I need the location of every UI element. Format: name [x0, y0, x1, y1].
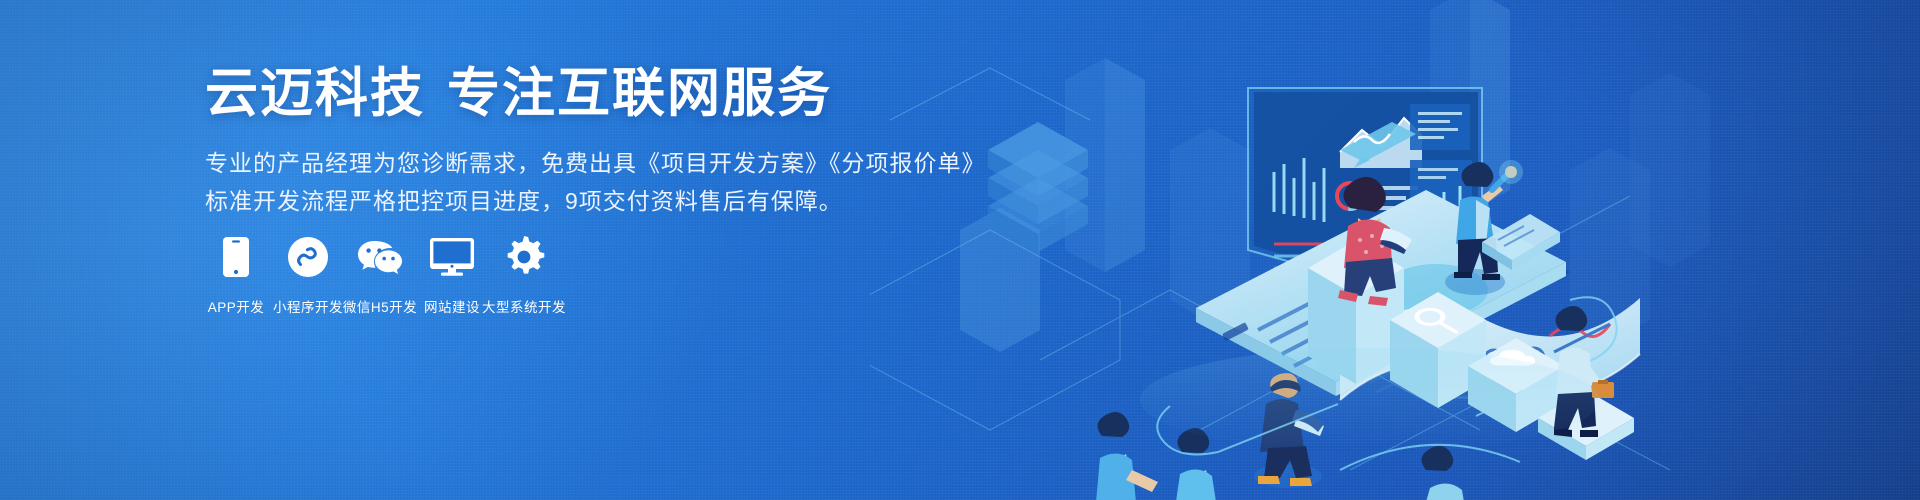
service-label: 网站建设: [424, 296, 480, 316]
service-item-wechat-h5[interactable]: 微信H5开发: [344, 232, 416, 316]
service-label: 小程序开发: [273, 296, 343, 316]
wechat-icon: [357, 232, 403, 282]
service-item-app[interactable]: APP开发: [200, 232, 272, 316]
service-label: 大型系统开发: [482, 296, 566, 316]
hero-illustration: [870, 0, 1920, 500]
service-label: 微信H5开发: [343, 296, 417, 316]
hero-subtitle: 专业的产品经理为您诊断需求，免费出具《项目开发方案》《分项报价单》 标准开发流程…: [205, 145, 965, 220]
monitor-icon: [430, 232, 474, 282]
title-part-2: 专注互联网服务: [447, 64, 832, 123]
mobile-phone-icon: [223, 232, 249, 282]
subtitle-line-2: 标准开发流程严格把控项目进度，9项交付资料售后有保障。: [205, 183, 965, 220]
title-part-1: 云迈科技: [205, 64, 425, 123]
service-label: APP开发: [208, 296, 265, 316]
page-title: 云迈科技专注互联网服务: [205, 64, 965, 123]
service-item-mini-program[interactable]: 小程序开发: [272, 232, 344, 316]
hero-copy: 云迈科技专注互联网服务 专业的产品经理为您诊断需求，免费出具《项目开发方案》《分…: [205, 64, 965, 220]
service-list: APP开发 小程序开发 微信: [200, 232, 560, 316]
hero-banner: 云迈科技专注互联网服务 专业的产品经理为您诊断需求，免费出具《项目开发方案》《分…: [0, 0, 1920, 500]
mini-program-icon: [288, 232, 328, 282]
service-item-large-system[interactable]: 大型系统开发: [488, 232, 560, 316]
service-item-website[interactable]: 网站建设: [416, 232, 488, 316]
gear-icon: [503, 232, 545, 282]
subtitle-line-1: 专业的产品经理为您诊断需求，免费出具《项目开发方案》《分项报价单》: [205, 145, 965, 182]
